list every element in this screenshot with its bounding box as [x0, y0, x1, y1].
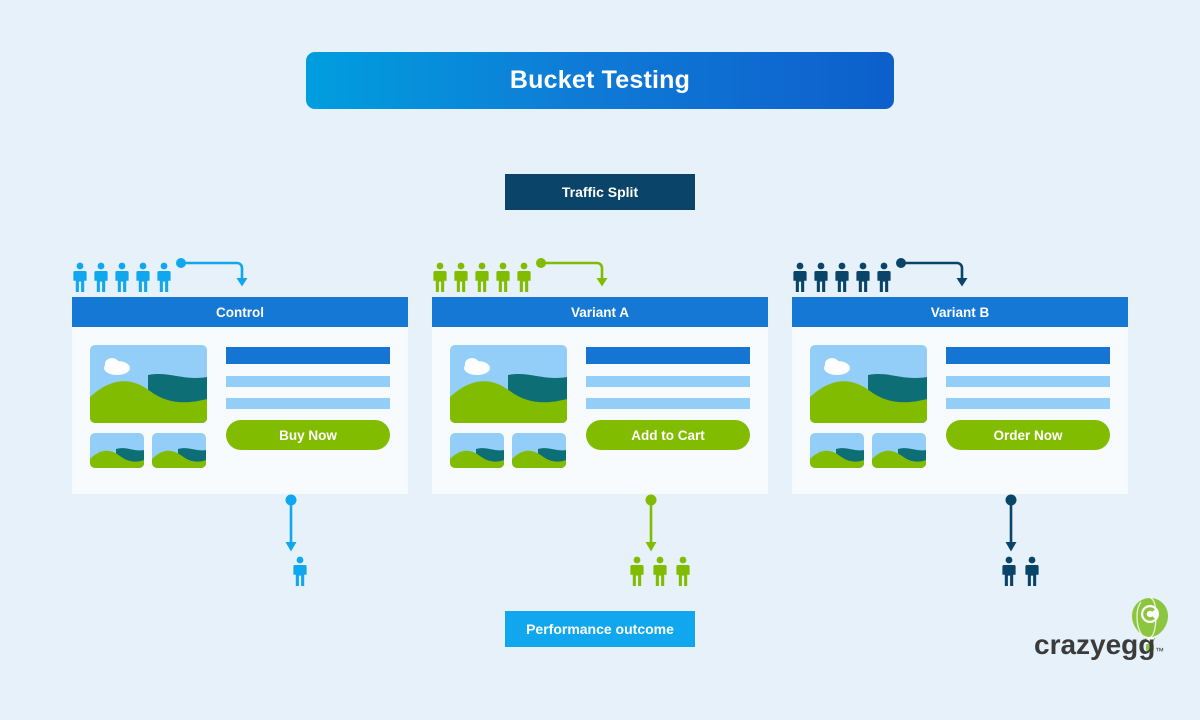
traffic-split-badge: Traffic Split [505, 174, 695, 210]
thumbnail-image-icon [152, 433, 206, 468]
variant-card-body-variant-b: Order Now [792, 327, 1128, 468]
traffic-split-label: Traffic Split [562, 184, 638, 200]
conversion-people-control [268, 556, 332, 586]
text-placeholder-bar [226, 376, 390, 387]
person-icon [432, 262, 448, 292]
content-column: Order Now [946, 345, 1110, 468]
visitor-people-variant-b [792, 262, 892, 292]
person-icon [114, 262, 130, 292]
connector-arrow-icon [1002, 494, 1020, 556]
person-icon [156, 262, 172, 292]
headline-placeholder-bar [226, 347, 390, 364]
variant-card-body-control: Buy Now [72, 327, 408, 468]
person-icon [834, 262, 850, 292]
audience-group-variant-b [792, 246, 1128, 292]
thumbnail-image-icon [90, 433, 144, 468]
cta-button-variant-a[interactable]: Add to Cart [586, 420, 750, 450]
page-title-banner: Bucket Testing [306, 52, 894, 109]
cta-label: Add to Cart [631, 428, 705, 443]
variant-column-variant-b: Variant B [792, 246, 1128, 589]
visitor-people-variant-a [432, 262, 532, 292]
content-column: Buy Now [226, 345, 390, 468]
conversion-people-variant-a [628, 556, 692, 586]
performance-outcome-label: Performance outcome [526, 621, 674, 637]
person-icon [813, 262, 829, 292]
headline-placeholder-bar [946, 347, 1110, 364]
text-placeholder-bar [226, 398, 390, 409]
media-column [810, 345, 927, 468]
connector-arrow-icon [642, 494, 660, 556]
hero-image-icon [90, 345, 207, 423]
feed-arrow-icon [176, 256, 252, 290]
person-icon [629, 556, 645, 586]
feed-arrow-icon [536, 256, 612, 290]
cta-label: Order Now [993, 428, 1062, 443]
person-icon [1001, 556, 1017, 586]
person-icon [516, 262, 532, 292]
hero-image-icon [810, 345, 927, 423]
logo-trademark: ™ [1155, 646, 1164, 656]
variant-card-header-control: Control [72, 297, 408, 327]
text-placeholder-bar [946, 376, 1110, 387]
person-icon [855, 262, 871, 292]
person-icon [652, 556, 668, 586]
thumbnail-row [810, 433, 927, 468]
person-icon [72, 262, 88, 292]
person-icon [792, 262, 808, 292]
thumbnail-image-icon [810, 433, 864, 468]
text-placeholder-bar [946, 398, 1110, 409]
content-column: Add to Cart [586, 345, 750, 468]
thumbnail-row [450, 433, 567, 468]
variant-card-header-variant-b: Variant B [792, 297, 1128, 327]
person-icon [876, 262, 892, 292]
hero-image-icon [450, 345, 567, 423]
crazyegg-logo: crazyegg ™ [1030, 596, 1175, 664]
person-icon [495, 262, 511, 292]
conversion-people-variant-b [988, 556, 1052, 586]
person-icon [1024, 556, 1040, 586]
variant-title: Variant A [571, 305, 629, 320]
outcome-group-control [72, 494, 408, 589]
visitor-people-control [72, 262, 172, 292]
media-column [450, 345, 567, 468]
person-icon [474, 262, 490, 292]
text-placeholder-bar [586, 398, 750, 409]
audience-group-variant-a [432, 246, 768, 292]
headline-placeholder-bar [586, 347, 750, 364]
thumbnail-row [90, 433, 207, 468]
performance-outcome-badge: Performance outcome [505, 611, 695, 647]
person-icon [453, 262, 469, 292]
variant-column-control: Control [72, 246, 408, 589]
logo-wordmark: crazyegg [1034, 629, 1155, 660]
variant-card-header-variant-a: Variant A [432, 297, 768, 327]
person-icon [93, 262, 109, 292]
person-icon [292, 556, 308, 586]
person-icon [675, 556, 691, 586]
outcome-group-variant-b [792, 494, 1128, 589]
cta-label: Buy Now [279, 428, 337, 443]
feed-arrow-icon [896, 256, 972, 290]
variant-card-variant-b[interactable]: Variant B [792, 297, 1128, 494]
cta-button-control[interactable]: Buy Now [226, 420, 390, 450]
media-column [90, 345, 207, 468]
thumbnail-image-icon [512, 433, 566, 468]
variant-title: Variant B [931, 305, 990, 320]
outcome-group-variant-a [432, 494, 768, 589]
audience-group-control [72, 246, 408, 292]
person-icon [135, 262, 151, 292]
thumbnail-image-icon [872, 433, 926, 468]
variant-card-body-variant-a: Add to Cart [432, 327, 768, 468]
text-placeholder-bar [586, 376, 750, 387]
cta-button-variant-b[interactable]: Order Now [946, 420, 1110, 450]
variant-card-variant-a[interactable]: Variant A [432, 297, 768, 494]
variant-title: Control [216, 305, 264, 320]
connector-arrow-icon [282, 494, 300, 556]
thumbnail-image-icon [450, 433, 504, 468]
variant-column-variant-a: Variant A [432, 246, 768, 589]
variant-card-control[interactable]: Control [72, 297, 408, 494]
page-title: Bucket Testing [510, 66, 690, 95]
